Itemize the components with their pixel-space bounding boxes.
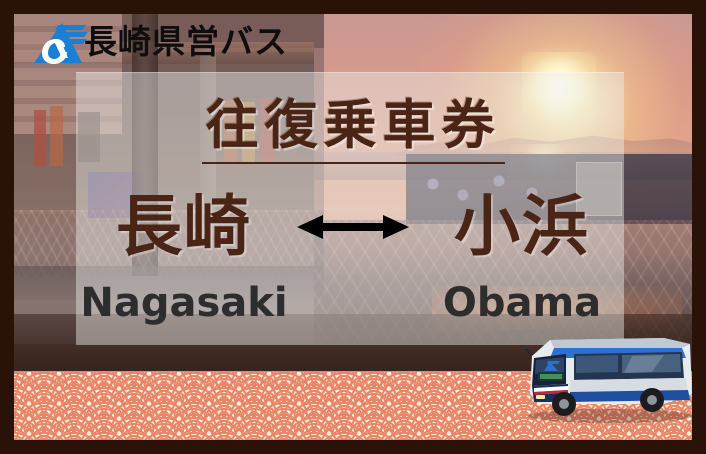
origin-romaji: Nagasaki — [74, 281, 294, 325]
destination-romaji: Obama — [412, 281, 632, 325]
ticket-artwork-canvas: 長崎県営バス 往復乗車券 長崎 小浜 Nagasaki Obama — [14, 14, 692, 440]
route-romaji-row: Nagasaki Obama — [14, 280, 692, 326]
ticket-title-wrap: 往復乗車券 — [14, 96, 692, 164]
highway-bus-photo — [514, 328, 692, 424]
destination-kanji: 小浜 — [412, 191, 632, 263]
company-name: 長崎県営バス — [84, 24, 288, 60]
double-headed-arrow-icon — [294, 212, 412, 242]
page-title: 往復乗車券 — [202, 96, 505, 164]
ticket-header: 長崎県営バス — [14, 14, 692, 72]
bus-ticket: 長崎県営バス 往復乗車券 長崎 小浜 Nagasaki Obama — [0, 0, 706, 454]
route-row: 長崎 小浜 — [14, 192, 692, 262]
origin-kanji: 長崎 — [74, 191, 294, 263]
nagasaki-kenei-bus-wing-logo-icon — [28, 20, 90, 66]
